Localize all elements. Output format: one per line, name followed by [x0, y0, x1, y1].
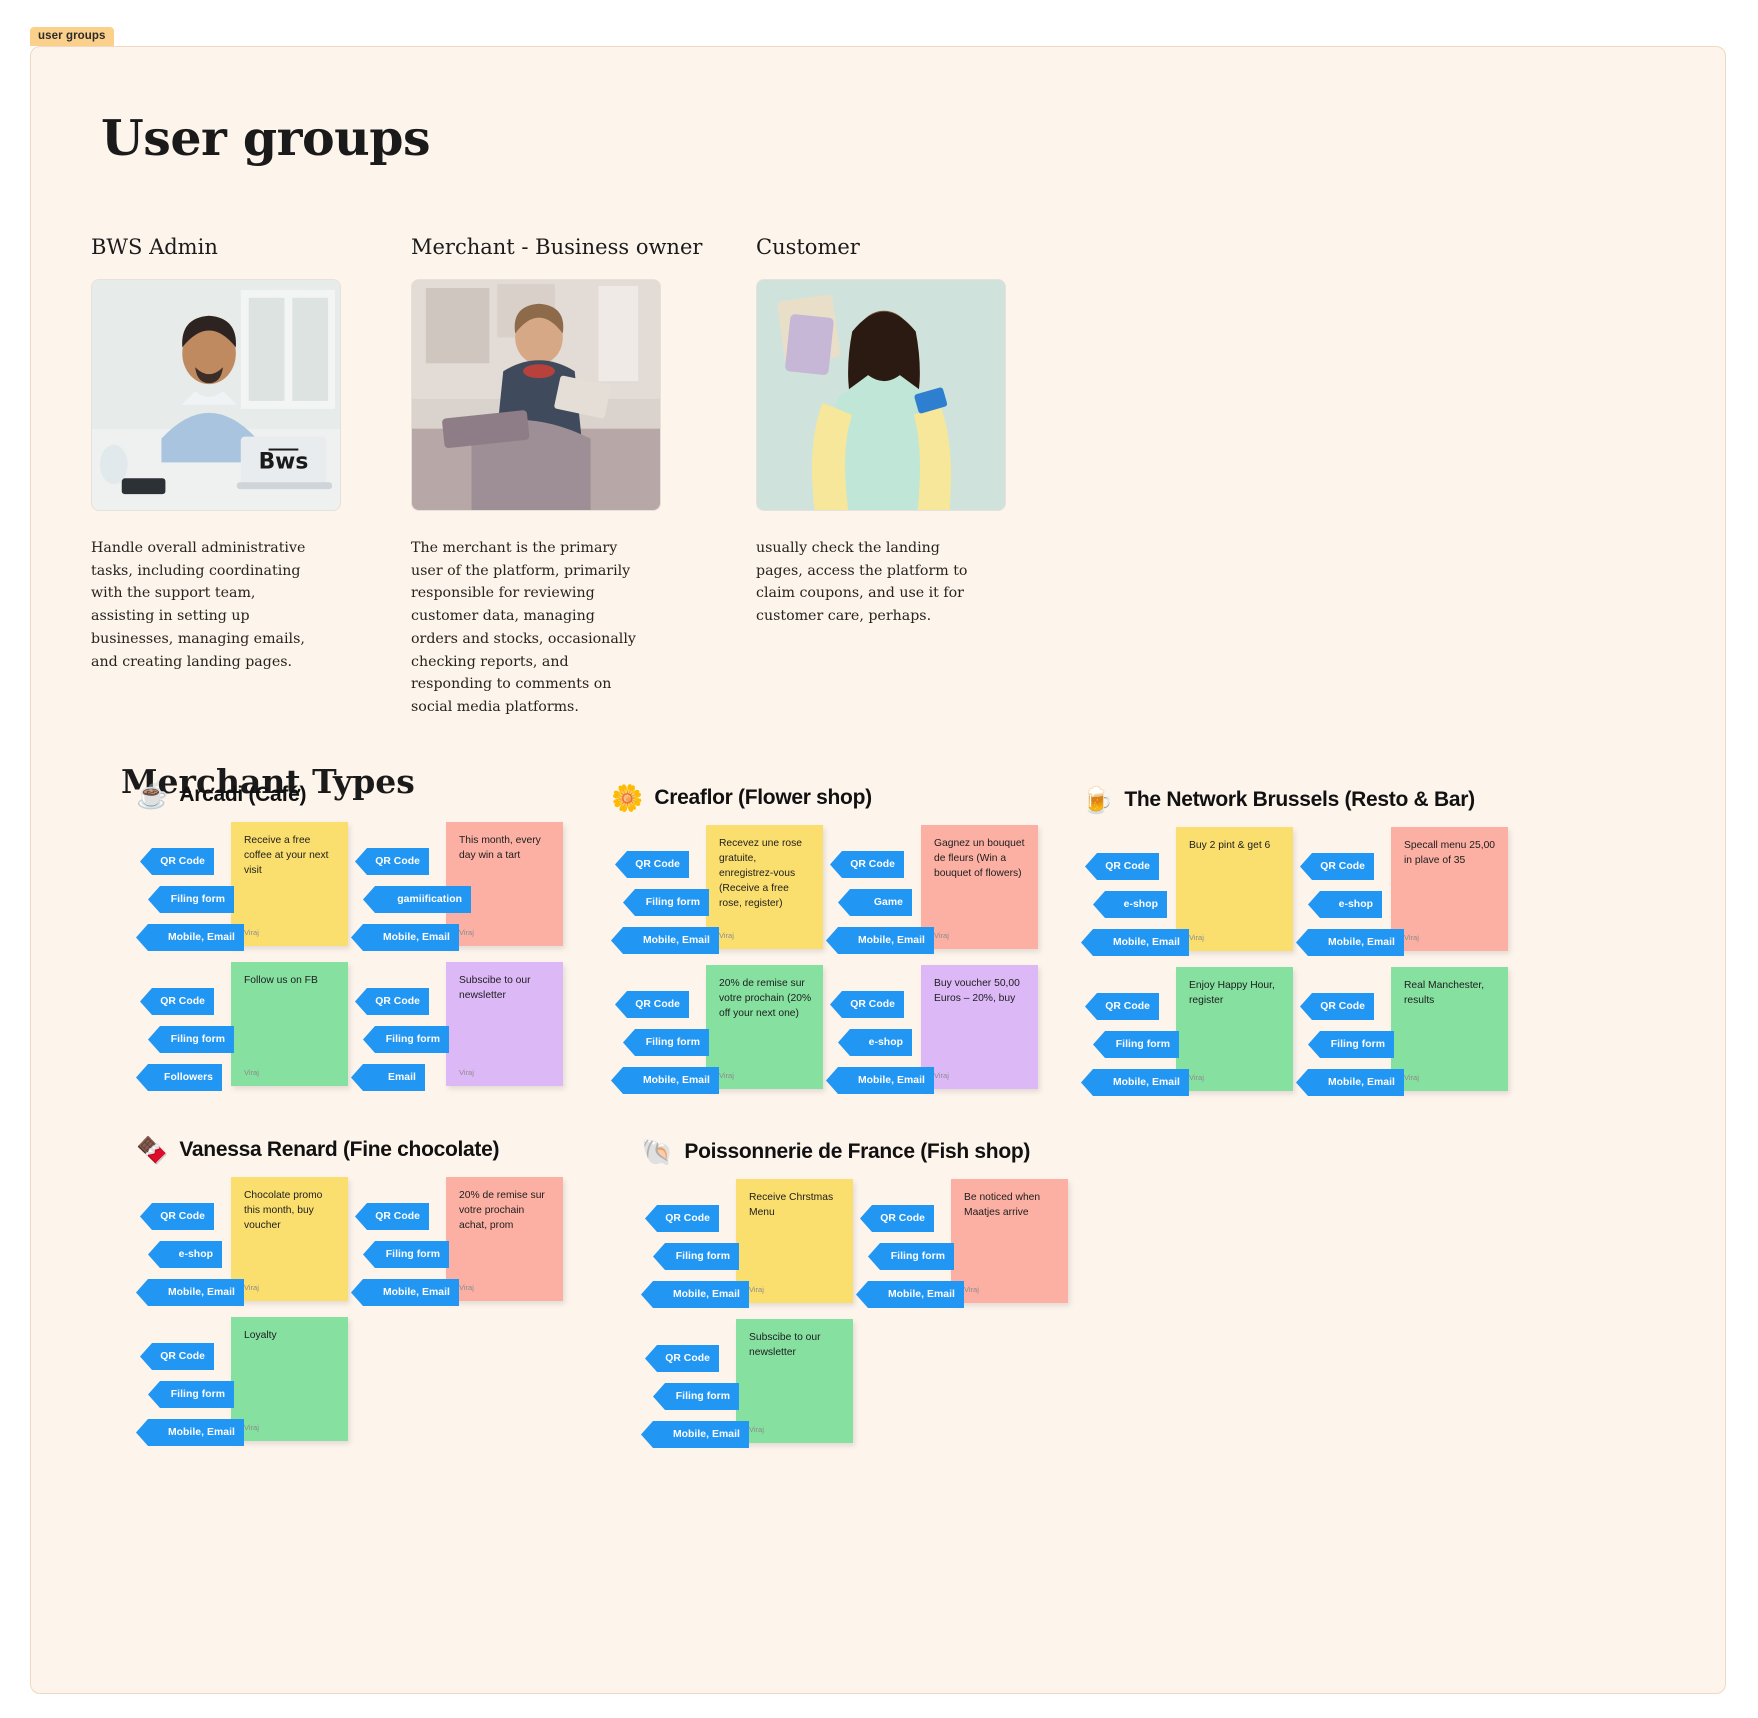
flow-step-chevron[interactable]: Mobile, Email [1081, 1069, 1189, 1096]
flow-steps: QR CodeFiling formFollowers [136, 988, 236, 1102]
flow-steps: QR CodegamiificationMobile, Email [351, 848, 451, 962]
network-brussels-icon: 🍺 [1081, 787, 1113, 813]
flow-poissonnerie-3: QR CodeFiling formMobile, EmailSubscibe … [641, 1319, 911, 1447]
sticky-note-text: Buy voucher 50,00 Euros – 20%, buy [934, 977, 1027, 1007]
sticky-note[interactable]: 20% de remise sur votre prochain achat, … [446, 1177, 563, 1301]
flow-step-chevron[interactable]: QR Code [860, 1205, 934, 1232]
flow-step-chevron[interactable]: Mobile, Email [136, 924, 244, 951]
flow-steps: QR CodeFiling formMobile, Email [856, 1205, 956, 1319]
merchant-group-creaflor: 🌼 Creaflor (Flower shop)QR CodeFiling fo… [611, 785, 872, 1115]
persona-title: BWS Admin [91, 235, 371, 259]
flow-steps: QR CodeFiling formMobile, Email [136, 1343, 236, 1457]
canvas-page: user groups User groups BWS Admin Bws Ha… [0, 0, 1758, 1718]
flow-step-chevron[interactable]: QR Code [645, 1345, 719, 1372]
flow-step-chevron[interactable]: QR Code [355, 848, 429, 875]
sticky-note[interactable]: Gagnez un bouquet de fleurs (Win a bouqu… [921, 825, 1038, 949]
flow-step-chevron[interactable]: Mobile, Email [351, 1279, 459, 1306]
flow-steps: QR CodeGameMobile, Email [826, 851, 926, 965]
sticky-note-text: Gagnez un bouquet de fleurs (Win a bouqu… [934, 837, 1027, 882]
persona-description: The merchant is the primary user of the … [411, 537, 643, 719]
persona-card-3: Customer usually check the landing pages… [756, 235, 1036, 628]
sticky-note-text: 20% de remise sur votre prochain (20% of… [719, 977, 812, 1022]
flow-creaflor-4: QR Codee-shopMobile, EmailBuy voucher 50… [826, 965, 1096, 1093]
flow-step-chevron[interactable]: e-shop [838, 1029, 912, 1056]
flow-step-chevron[interactable]: Mobile, Email [136, 1419, 244, 1446]
merchant-name: Poissonnerie de France (Fish shop) [684, 1140, 1030, 1164]
arcadi-icon: ☕ [136, 782, 168, 808]
flow-step-chevron[interactable]: Mobile, Email [351, 924, 459, 951]
sticky-note[interactable]: Specall menu 25,00 in plave of 35Viraj [1391, 827, 1508, 951]
flow-step-chevron[interactable]: QR Code [355, 1203, 429, 1230]
merchant-group-arcadi: ☕ Arcadi (Café)QR CodeFiling formMobile,… [136, 782, 306, 1112]
sticky-note-author: Viraj [459, 1068, 474, 1079]
sticky-note[interactable]: LoyaltyViraj [231, 1317, 348, 1441]
flow-step-chevron[interactable]: QR Code [645, 1205, 719, 1232]
sticky-note-author: Viraj [244, 1068, 259, 1079]
persona-description: Handle overall administrative tasks, inc… [91, 537, 323, 673]
sticky-note-author: Viraj [749, 1425, 764, 1436]
merchant-name: Vanessa Renard (Fine chocolate) [179, 1138, 499, 1162]
sticky-note[interactable]: This month, every day win a tartViraj [446, 822, 563, 946]
persona-title: Customer [756, 235, 1036, 259]
sticky-note-text: Follow us on FB [244, 974, 337, 989]
sticky-note-author: Viraj [244, 928, 259, 939]
sticky-note[interactable]: Subscibe to our newsletterViraj [736, 1319, 853, 1443]
sticky-note-author: Viraj [244, 1283, 259, 1294]
flow-steps: QR CodeFiling formMobile, Email [1081, 993, 1181, 1107]
merchant-header: 🍫 Vanessa Renard (Fine chocolate) [136, 1137, 499, 1163]
flow-step-chevron[interactable]: Game [838, 889, 912, 916]
sticky-note-text: Subscibe to our newsletter [749, 1331, 842, 1361]
flow-step-chevron[interactable]: Followers [136, 1064, 222, 1091]
flow-steps: QR CodeFiling formMobile, Email [641, 1205, 741, 1319]
flow-steps: QR CodeFiling formMobile, Email [641, 1345, 741, 1459]
flow-step-chevron[interactable]: QR Code [140, 1203, 214, 1230]
flow-network-brussels-2: QR Codee-shopMobile, EmailSpecall menu 2… [1296, 827, 1566, 955]
flow-step-chevron[interactable]: Filing form [653, 1243, 739, 1270]
sticky-note[interactable]: Recevez une rose gratuite, enregistrez-v… [706, 825, 823, 949]
flow-step-chevron[interactable]: Filing form [1093, 1031, 1179, 1058]
flow-step-chevron[interactable]: Filing form [623, 1029, 709, 1056]
flow-step-chevron[interactable]: Filing form [653, 1383, 739, 1410]
flow-step-chevron[interactable]: QR Code [1300, 853, 1374, 880]
flow-arcadi-2: QR CodegamiificationMobile, EmailThis mo… [351, 822, 621, 950]
flow-step-chevron[interactable]: Filing form [148, 1381, 234, 1408]
flow-step-chevron[interactable]: Mobile, Email [1081, 929, 1189, 956]
sticky-note[interactable]: Receive Chrstmas MenuViraj [736, 1179, 853, 1303]
vanessa-renard-icon: 🍫 [136, 1137, 168, 1163]
flow-network-brussels-4: QR CodeFiling formMobile, EmailReal Manc… [1296, 967, 1566, 1095]
sticky-note-author: Viraj [1189, 933, 1204, 944]
flow-step-chevron[interactable]: e-shop [1308, 891, 1382, 918]
flow-step-chevron[interactable]: Mobile, Email [826, 1067, 934, 1094]
flow-poissonnerie-2: QR CodeFiling formMobile, EmailBe notice… [856, 1179, 1126, 1307]
flow-steps: QR Codee-shopMobile, Email [136, 1203, 236, 1317]
persona-title: Merchant - Business owner [411, 235, 691, 259]
sticky-note[interactable]: Subscibe to our newsletterViraj [446, 962, 563, 1086]
flow-steps: QR CodeFiling formMobile, Email [611, 851, 711, 965]
sticky-note-text: Loyalty [244, 1329, 337, 1344]
flow-vanessa-renard-2: QR CodeFiling formMobile, Email20% de re… [351, 1177, 621, 1305]
flow-step-chevron[interactable]: Mobile, Email [641, 1281, 749, 1308]
flow-step-chevron[interactable]: QR Code [140, 1343, 214, 1370]
sticky-note-author: Viraj [719, 1071, 734, 1082]
svg-text:Bws: Bws [259, 449, 309, 474]
flow-step-chevron[interactable]: gamiification [363, 886, 471, 913]
flow-step-chevron[interactable]: QR Code [615, 851, 689, 878]
flow-step-chevron[interactable]: QR Code [1085, 993, 1159, 1020]
sticky-note-author: Viraj [459, 928, 474, 939]
sticky-note[interactable]: 20% de remise sur votre prochain (20% of… [706, 965, 823, 1089]
sticky-note[interactable]: Be noticed when Maatjes arriveViraj [951, 1179, 1068, 1303]
flow-vanessa-renard-3: QR CodeFiling formMobile, EmailLoyaltyVi… [136, 1317, 406, 1445]
board-frame: User groups BWS Admin Bws Handle overall… [30, 46, 1726, 1694]
merchant-header: 🍺 The Network Brussels (Resto & Bar) [1081, 787, 1475, 813]
sticky-note-author: Viraj [1189, 1073, 1204, 1084]
merchant-group-vanessa-renard: 🍫 Vanessa Renard (Fine chocolate)QR Code… [136, 1137, 499, 1467]
creaflor-icon: 🌼 [611, 785, 643, 811]
flow-grid: QR CodeFiling formMobile, EmailRecevez u… [611, 825, 872, 1115]
sticky-note[interactable]: Real Manchester, resultsViraj [1391, 967, 1508, 1091]
flow-grid: QR CodeFiling formMobile, EmailReceive C… [641, 1179, 1030, 1469]
flow-steps: QR Codee-shopMobile, Email [826, 991, 926, 1105]
board-tab-chip[interactable]: user groups [30, 27, 114, 46]
sticky-note-text: Be noticed when Maatjes arrive [964, 1191, 1057, 1221]
flow-steps: QR CodeFiling formMobile, Email [351, 1203, 451, 1317]
merchant-header: ☕ Arcadi (Café) [136, 782, 306, 808]
persona-card-2: Merchant - Business owner The merchant i… [411, 235, 691, 719]
merchant-name: The Network Brussels (Resto & Bar) [1124, 788, 1474, 812]
flow-step-chevron[interactable]: e-shop [1093, 891, 1167, 918]
sticky-note-text: Subscibe to our newsletter [459, 974, 552, 1004]
flow-step-chevron[interactable]: Email [351, 1064, 425, 1091]
flow-step-chevron[interactable]: Mobile, Email [1296, 1069, 1404, 1096]
flow-step-chevron[interactable]: Mobile, Email [611, 1067, 719, 1094]
flow-step-chevron[interactable]: Filing form [1308, 1031, 1394, 1058]
merchant-group-network-brussels: 🍺 The Network Brussels (Resto & Bar)QR C… [1081, 787, 1475, 1117]
sticky-note-text: Receive Chrstmas Menu [749, 1191, 842, 1221]
sticky-note-text: Specall menu 25,00 in plave of 35 [1404, 839, 1497, 869]
sticky-note-text: Buy 2 pint & get 6 [1189, 839, 1282, 854]
merchant-group-poissonnerie: 🐚 Poissonnerie de France (Fish shop)QR C… [641, 1139, 1030, 1469]
sticky-note[interactable]: Follow us on FBViraj [231, 962, 348, 1086]
sticky-note-author: Viraj [1404, 1073, 1419, 1084]
sticky-note-author: Viraj [934, 931, 949, 942]
flow-steps: QR CodeFiling formMobile, Email [136, 848, 236, 962]
flow-step-chevron[interactable]: QR Code [615, 991, 689, 1018]
persona-description: usually check the landing pages, access … [756, 537, 988, 628]
flow-step-chevron[interactable]: Filing form [868, 1243, 954, 1270]
flow-steps: QR Codee-shopMobile, Email [1081, 853, 1181, 967]
flow-grid: QR Codee-shopMobile, EmailChocolate prom… [136, 1177, 499, 1467]
flow-step-chevron[interactable]: Filing form [148, 1026, 234, 1053]
merchant-photo [411, 279, 661, 511]
sticky-note-author: Viraj [964, 1285, 979, 1296]
flow-step-chevron[interactable]: QR Code [1300, 993, 1374, 1020]
flow-step-chevron[interactable]: Filing form [363, 1026, 449, 1053]
sticky-note-text: 20% de remise sur votre prochain achat, … [459, 1189, 552, 1234]
flow-step-chevron[interactable]: e-shop [148, 1241, 222, 1268]
sticky-note[interactable]: Buy voucher 50,00 Euros – 20%, buyViraj [921, 965, 1038, 1089]
flow-steps: QR CodeFiling formMobile, Email [1296, 993, 1396, 1107]
bws-admin-photo: Bws [91, 279, 341, 511]
sticky-note[interactable]: Buy 2 pint & get 6Viraj [1176, 827, 1293, 951]
sticky-note-text: Real Manchester, results [1404, 979, 1497, 1009]
sticky-note[interactable]: Enjoy Happy Hour, registerViraj [1176, 967, 1293, 1091]
flow-steps: QR Codee-shopMobile, Email [1296, 853, 1396, 967]
sticky-note-author: Viraj [244, 1423, 259, 1434]
sticky-note-author: Viraj [749, 1285, 764, 1296]
flow-step-chevron[interactable]: Filing form [623, 889, 709, 916]
customer-photo [756, 279, 1006, 511]
flow-step-chevron[interactable]: Mobile, Email [856, 1281, 964, 1308]
sticky-note-text: Recevez une rose gratuite, enregistrez-v… [719, 837, 812, 912]
flow-step-chevron[interactable]: QR Code [830, 851, 904, 878]
sticky-note-author: Viraj [459, 1283, 474, 1294]
merchant-header: 🌼 Creaflor (Flower shop) [611, 785, 872, 811]
sticky-note-text: Receive a free coffee at your next visit [244, 834, 337, 879]
flow-step-chevron[interactable]: QR Code [355, 988, 429, 1015]
flow-creaflor-2: QR CodeGameMobile, EmailGagnez un bouque… [826, 825, 1096, 953]
sticky-note-text: Chocolate promo this month, buy voucher [244, 1189, 337, 1234]
sticky-note-author: Viraj [1404, 933, 1419, 944]
flow-step-chevron[interactable]: Mobile, Email [136, 1279, 244, 1306]
flow-step-chevron[interactable]: Mobile, Email [1296, 929, 1404, 956]
merchant-name: Arcadi (Café) [179, 783, 306, 807]
flow-step-chevron[interactable]: QR Code [830, 991, 904, 1018]
sticky-note[interactable]: Receive a free coffee at your next visit… [231, 822, 348, 946]
flow-grid: QR CodeFiling formMobile, EmailReceive a… [136, 822, 306, 1112]
flow-step-chevron[interactable]: Filing form [148, 886, 234, 913]
flow-grid: QR Codee-shopMobile, EmailBuy 2 pint & g… [1081, 827, 1475, 1117]
flow-step-chevron[interactable]: QR Code [140, 848, 214, 875]
flow-step-chevron[interactable]: QR Code [140, 988, 214, 1015]
persona-card-1: BWS Admin Bws Handle overall administrat… [91, 235, 371, 673]
flow-steps: QR CodeFiling formEmail [351, 988, 451, 1102]
poissonnerie-icon: 🐚 [641, 1139, 673, 1165]
sticky-note-text: This month, every day win a tart [459, 834, 552, 864]
sticky-note-text: Enjoy Happy Hour, register [1189, 979, 1282, 1009]
flow-step-chevron[interactable]: Mobile, Email [611, 927, 719, 954]
flow-arcadi-4: QR CodeFiling formEmailSubscibe to our n… [351, 962, 621, 1090]
flow-step-chevron[interactable]: Filing form [363, 1241, 449, 1268]
sticky-note-author: Viraj [719, 931, 734, 942]
sticky-note[interactable]: Chocolate promo this month, buy voucherV… [231, 1177, 348, 1301]
sticky-note-author: Viraj [934, 1071, 949, 1082]
flow-step-chevron[interactable]: Mobile, Email [641, 1421, 749, 1448]
flow-step-chevron[interactable]: Mobile, Email [826, 927, 934, 954]
merchant-name: Creaflor (Flower shop) [654, 786, 871, 810]
page-title: User groups [101, 109, 430, 167]
flow-steps: QR CodeFiling formMobile, Email [611, 991, 711, 1105]
flow-step-chevron[interactable]: QR Code [1085, 853, 1159, 880]
merchant-header: 🐚 Poissonnerie de France (Fish shop) [641, 1139, 1030, 1165]
